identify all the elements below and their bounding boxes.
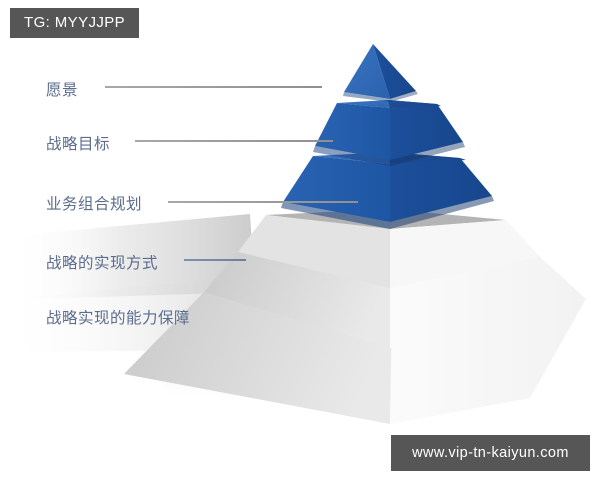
telegram-watermark-badge: TG: MYYJJPP <box>10 8 139 38</box>
connector-line-strategic-goals <box>135 140 333 142</box>
pyramid-label-strategic-goals: 战略目标 <box>46 132 110 154</box>
pyramid-label-business-portfolio-planning: 业务组合规划 <box>46 192 142 214</box>
connector-line-vision <box>105 86 322 88</box>
pyramid-label-capability-assurance: 战略实现的能力保障 <box>46 306 190 328</box>
connector-line-implementation-method <box>184 259 246 261</box>
pyramid-label-vision: 愿景 <box>46 78 78 100</box>
diagram-canvas: 愿景 战略目标 业务组合规划 战略的实现方式 战略实现的能力保障 TG: MYY… <box>0 0 600 480</box>
pyramid-graphic <box>0 0 600 480</box>
website-watermark-badge: www.vip-tn-kaiyun.com <box>391 435 590 471</box>
connector-line-business-portfolio <box>168 201 358 203</box>
pyramid-apex <box>343 44 418 102</box>
pyramid-label-strategy-implementation-method: 战略的实现方式 <box>46 251 158 273</box>
pyramid-level-1-blue <box>313 100 465 166</box>
